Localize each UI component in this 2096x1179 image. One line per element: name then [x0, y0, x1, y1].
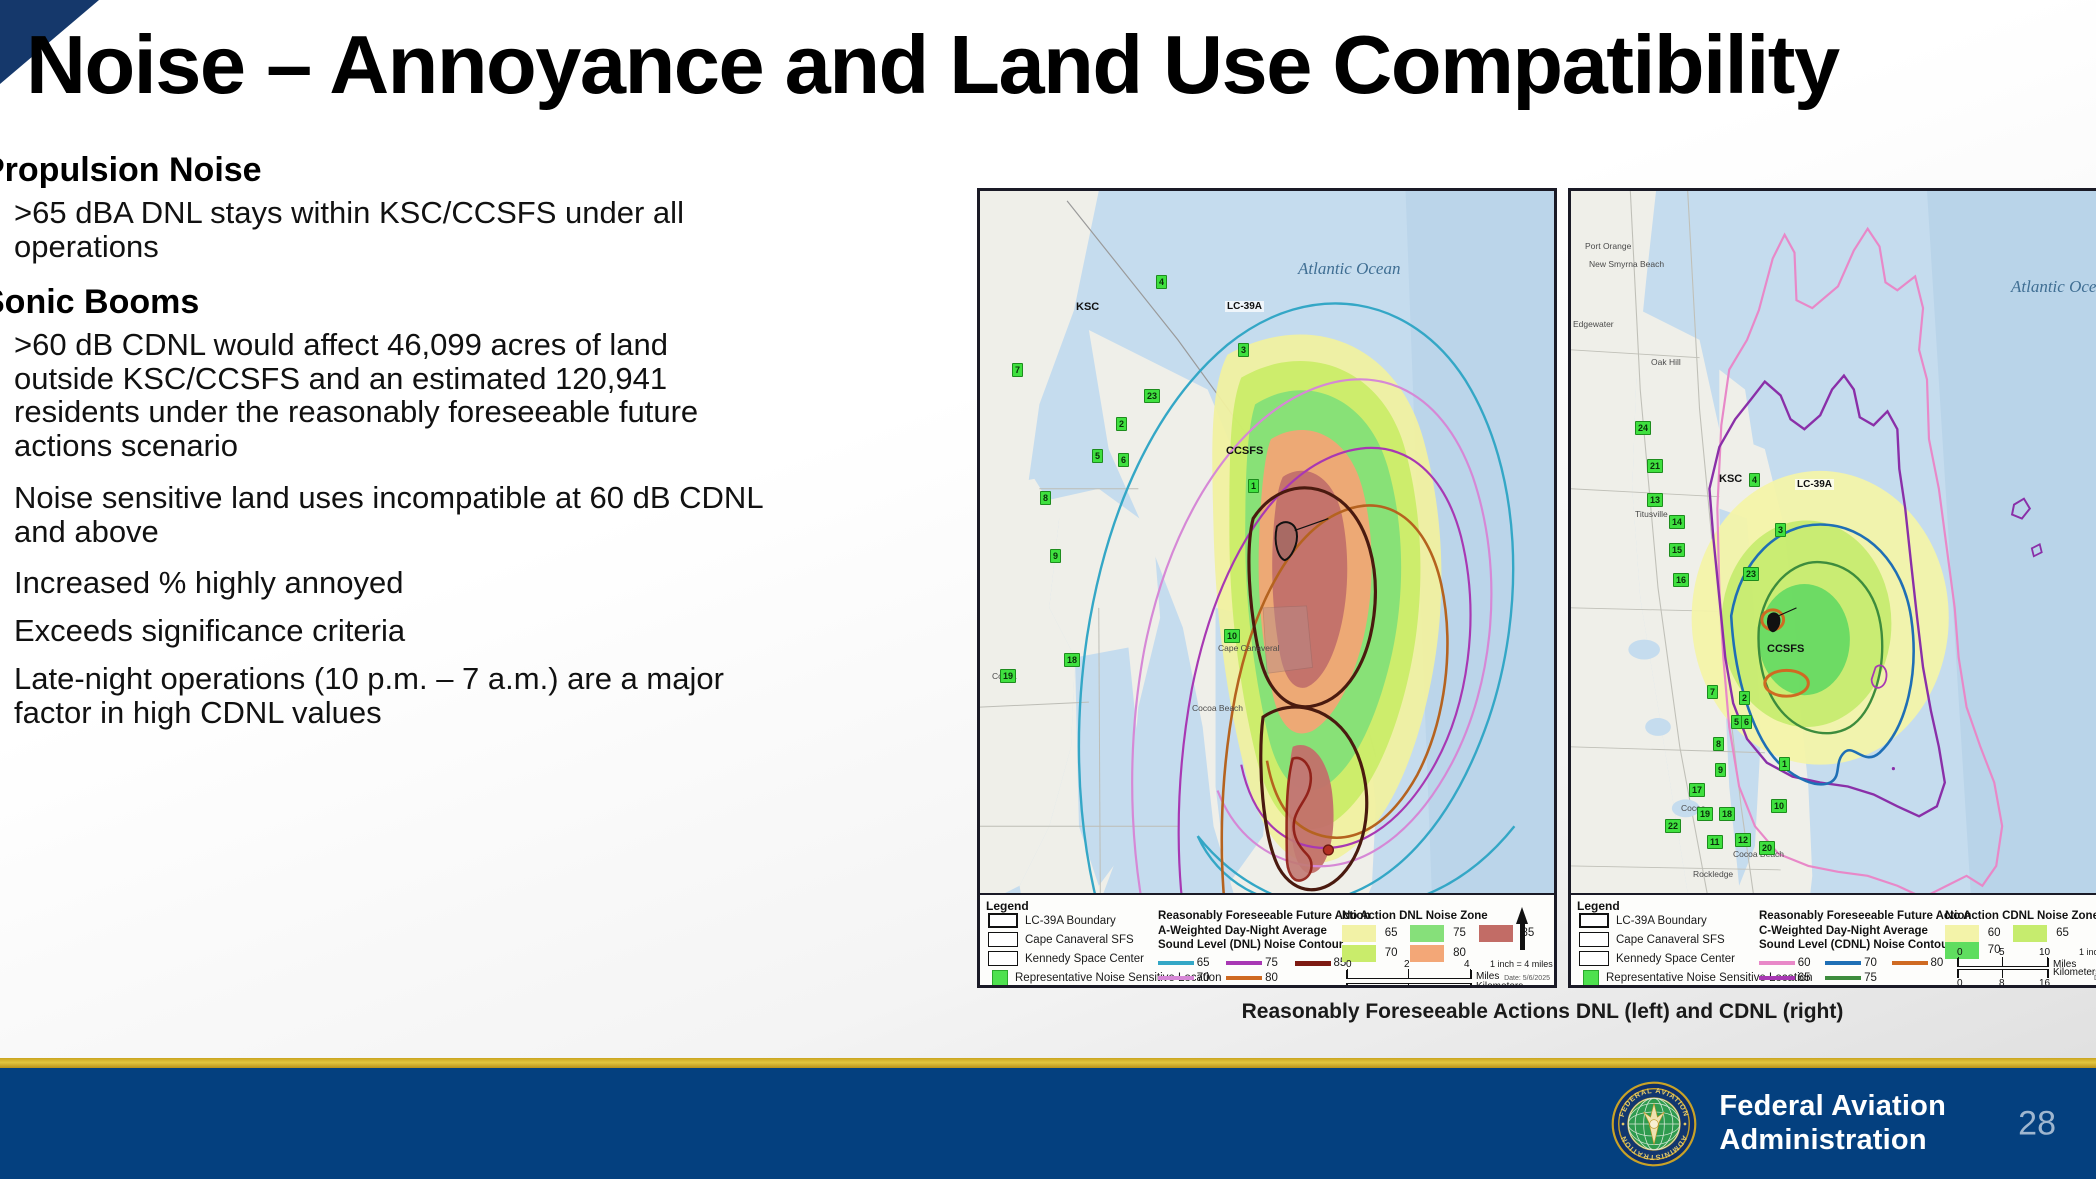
- cape-canaveral-sfs-swatch: [988, 932, 1018, 947]
- scalebar-miles-cdnl: 0 5 10 Miles: [1957, 947, 2049, 967]
- marker-8[interactable]: 8: [1713, 737, 1724, 751]
- marker-19[interactable]: 19: [1697, 807, 1713, 821]
- marker-11[interactable]: 11: [1707, 835, 1723, 849]
- zone-label-80: 80: [1453, 947, 1466, 959]
- marker-5[interactable]: 5: [1092, 449, 1103, 463]
- marker-13[interactable]: 13: [1647, 493, 1663, 507]
- page-number: 28: [2018, 1104, 2056, 1143]
- marker-1[interactable]: 1: [1248, 479, 1259, 493]
- place-label-titusville: Titusville: [1635, 509, 1668, 519]
- legend-contour-row-2-dnl: 70 80: [1158, 972, 1278, 984]
- legend-title-cdnl: Legend: [1577, 899, 1620, 913]
- marker-23[interactable]: 23: [1144, 389, 1160, 403]
- zone-label-75: 75: [1453, 927, 1466, 939]
- noise-sensitive-location-swatch: [992, 970, 1008, 985]
- legend-contour-heading-cdnl: Reasonably Foreseeable Future Action C-W…: [1759, 909, 1971, 953]
- legend-label: LC-39A Boundary: [1025, 915, 1116, 927]
- legend-contour-row-2-cdnl: 65 75: [1759, 972, 1877, 984]
- date-note-dnl: Date: 5/6/2025: [1504, 975, 1550, 982]
- place-label-cocoa-beach-dnl: Cocoa Beach: [1192, 703, 1243, 713]
- section-heading-sonic-booms: Sonic Booms: [0, 282, 772, 322]
- legend-zone-row-1-dnl: 65 75 85: [1342, 925, 1534, 942]
- legend-item-kennedy-space-center: Kennedy Space Center: [1579, 951, 1735, 966]
- bullet-sonic-3: Increased % highly annoyed: [14, 566, 774, 600]
- lc39a-boundary-swatch: [988, 913, 1018, 928]
- kennedy-space-center-swatch: [1579, 951, 1609, 966]
- marker-7[interactable]: 7: [1707, 685, 1718, 699]
- scalebar-km-cdnl: 0 8 16 Kilometers: [1957, 969, 2049, 985]
- scale-tick: 16: [2039, 978, 2050, 985]
- content-column: Propulsion Noise >65 dBA DNL stays withi…: [0, 150, 772, 748]
- faa-agency-line1: Federal Aviation: [1719, 1090, 1946, 1124]
- place-label-oak-hill: Oak Hill: [1651, 357, 1681, 367]
- legend-item-lc39a-boundary: LC-39A Boundary: [1579, 913, 1707, 928]
- legend-zone-heading-cdnl: No Action CDNL Noise Zone: [1945, 909, 2096, 924]
- zone-label-65: 65: [1385, 927, 1398, 939]
- contour-label-65: 65: [1197, 957, 1210, 969]
- map-panel-cdnl[interactable]: Atlantic Ocean KSC CCSFS LC-39A Port Ora…: [1568, 188, 2096, 988]
- contour-label-75: 75: [1265, 957, 1278, 969]
- marker-23[interactable]: 23: [1743, 567, 1759, 581]
- legend-item-cape-canaveral-sfs: Cape Canaveral SFS: [988, 932, 1134, 947]
- marker-18[interactable]: 18: [1719, 807, 1735, 821]
- place-label-edgewater: Edgewater: [1573, 319, 1614, 329]
- section-heading-propulsion-noise: Propulsion Noise: [0, 150, 772, 190]
- map-label-ccsfs-dnl: CCSFS: [1226, 445, 1263, 457]
- legend-item-cape-canaveral-sfs: Cape Canaveral SFS: [1579, 932, 1725, 947]
- map-label-ksc-dnl: KSC: [1076, 301, 1099, 313]
- marker-3[interactable]: 3: [1775, 523, 1786, 537]
- faa-branding: FEDERAL AVIATION ADMINISTRATION Federal …: [1611, 1081, 1946, 1167]
- bullet-sonic-5: Late-night operations (10 p.m. – 7 a.m.)…: [14, 662, 774, 730]
- place-label-new-smyrna-beach: New Smyrna Beach: [1589, 259, 1664, 269]
- legend-label: Kennedy Space Center: [1616, 953, 1735, 965]
- legend-cdnl: Legend LC-39A Boundary Cape Canaveral SF…: [1571, 893, 2096, 985]
- marker-9[interactable]: 9: [1050, 549, 1061, 563]
- contour-label-70: 70: [1197, 972, 1210, 984]
- marker-2[interactable]: 2: [1739, 691, 1750, 705]
- marker-12[interactable]: 12: [1735, 833, 1751, 847]
- cdnl-map-graphic: [1571, 191, 2096, 985]
- legend-contour-heading-dnl: Reasonably Foreseeable Future Action A-W…: [1158, 909, 1370, 953]
- ocean-label-dnl: Atlantic Ocean: [1298, 259, 1400, 279]
- place-label-cape-canaveral-dnl: Cape Canaveral: [1218, 643, 1279, 653]
- scale-note-dnl: 1 inch = 4 miles: [1490, 959, 1553, 969]
- legend-label: Kennedy Space Center: [1025, 953, 1144, 965]
- scalebar-km-dnl: 0 3 6 Kilometers: [1346, 983, 1472, 985]
- ocean-label-cdnl: Atlantic Ocean: [2011, 277, 2096, 297]
- scale-note-cdnl: 1 inch: [2079, 947, 2096, 957]
- legend-zone-heading-dnl: No Action DNL Noise Zone: [1342, 909, 1488, 924]
- marker-21[interactable]: 21: [1647, 459, 1663, 473]
- contour-label-65: 65: [1798, 972, 1811, 984]
- cape-canaveral-sfs-swatch: [1579, 932, 1609, 947]
- marker-1[interactable]: 1: [1779, 757, 1790, 771]
- marker-24[interactable]: 24: [1635, 421, 1651, 435]
- figure-noise-contour-maps: Atlantic Ocean KSC CCSFS LC-39A Cape Can…: [977, 188, 2096, 988]
- kennedy-space-center-swatch: [988, 951, 1018, 966]
- bullet-sonic-4: Exceeds significance criteria: [14, 614, 774, 648]
- legend-label: LC-39A Boundary: [1616, 915, 1707, 927]
- legend-item-lc39a-boundary: LC-39A Boundary: [988, 913, 1116, 928]
- zone-label-70: 70: [1385, 947, 1398, 959]
- contour-label-75: 75: [1864, 972, 1877, 984]
- marker-8[interactable]: 8: [1040, 491, 1051, 505]
- bullet-sonic-1: >60 dB CDNL would affect 46,099 acres of…: [14, 328, 774, 463]
- scale-tick: 4: [1464, 959, 1470, 970]
- place-label-rockledge: Rockledge: [1693, 869, 1733, 879]
- map-label-lc39a-cdnl: LC-39A: [1795, 479, 1834, 490]
- marker-4[interactable]: 4: [1156, 275, 1167, 289]
- bullet-propulsion-1: >65 dBA DNL stays within KSC/CCSFS under…: [14, 196, 774, 264]
- scale-tick: 0: [1957, 978, 1963, 985]
- zone-label-60: 60: [1988, 927, 2001, 939]
- marker-2[interactable]: 2: [1116, 417, 1127, 431]
- scalebar-miles-dnl: 0 2 4 Miles: [1346, 959, 1472, 979]
- marker-6[interactable]: 6: [1118, 453, 1129, 467]
- place-label-port-orange: Port Orange: [1585, 241, 1631, 251]
- marker-15[interactable]: 15: [1669, 543, 1685, 557]
- page-title: Noise – Annoyance and Land Use Compatibi…: [26, 20, 2096, 110]
- faa-agency-name: Federal Aviation Administration: [1719, 1090, 1946, 1157]
- scale-tick: 8: [1999, 978, 2005, 985]
- legend-dnl: Legend LC-39A Boundary Cape Canaveral SF…: [980, 893, 1554, 985]
- map-label-ccsfs-cdnl: CCSFS: [1767, 643, 1804, 655]
- map-label-ksc-cdnl: KSC: [1719, 473, 1742, 485]
- legend-contour-row-1-cdnl: 60 70 80: [1759, 957, 1943, 969]
- lc39a-boundary-swatch: [1579, 913, 1609, 928]
- marker-18[interactable]: 18: [1064, 653, 1080, 667]
- figure-caption: Reasonably Foreseeable Actions DNL (left…: [977, 1000, 2096, 1024]
- legend-label: Cape Canaveral SFS: [1616, 934, 1725, 946]
- legend-contour-row-1-dnl: 65 75 85: [1158, 957, 1346, 969]
- contour-label-80: 80: [1931, 957, 1944, 969]
- map-panel-dnl[interactable]: Atlantic Ocean KSC CCSFS LC-39A Cape Can…: [977, 188, 1557, 988]
- scale-tick: 10: [2039, 947, 2050, 958]
- bullet-sonic-2: Noise sensitive land uses incompatible a…: [14, 481, 774, 549]
- faa-seal-icon: FEDERAL AVIATION ADMINISTRATION: [1611, 1081, 1697, 1167]
- marker-17[interactable]: 17: [1689, 783, 1705, 797]
- marker-4[interactable]: 4: [1749, 473, 1760, 487]
- legend-title-dnl: Legend: [986, 899, 1029, 913]
- zone-label-65: 65: [2056, 927, 2069, 939]
- contour-label-60: 60: [1798, 957, 1811, 969]
- legend-item-kennedy-space-center: Kennedy Space Center: [988, 951, 1144, 966]
- legend-label: Cape Canaveral SFS: [1025, 934, 1134, 946]
- marker-10[interactable]: 10: [1771, 799, 1787, 813]
- map-label-lc39a-dnl: LC-39A: [1225, 301, 1264, 312]
- dnl-map-graphic: [980, 191, 1554, 985]
- marker-16[interactable]: 16: [1673, 573, 1689, 587]
- marker-14[interactable]: 14: [1669, 515, 1685, 529]
- noise-sensitive-location-swatch: [1583, 970, 1599, 985]
- marker-19[interactable]: 19: [1000, 669, 1016, 683]
- footer-bar: FEDERAL AVIATION ADMINISTRATION Federal …: [0, 1068, 2096, 1179]
- marker-7[interactable]: 7: [1012, 363, 1023, 377]
- scale-unit-km: Kilometers: [2053, 967, 2096, 978]
- slide-canvas: Noise – Annoyance and Land Use Compatibi…: [0, 0, 2096, 1179]
- contour-label-80: 80: [1265, 972, 1278, 984]
- marker-3[interactable]: 3: [1238, 343, 1249, 357]
- marker-22[interactable]: 22: [1665, 819, 1681, 833]
- marker-6[interactable]: 6: [1741, 715, 1752, 729]
- marker-10[interactable]: 10: [1224, 629, 1240, 643]
- marker-9[interactable]: 9: [1715, 763, 1726, 777]
- contour-label-70: 70: [1864, 957, 1877, 969]
- gold-divider-bar: [0, 1058, 2096, 1068]
- marker-20[interactable]: 20: [1759, 841, 1775, 855]
- faa-agency-line2: Administration: [1719, 1124, 1946, 1158]
- north-arrow-icon: [1516, 907, 1528, 950]
